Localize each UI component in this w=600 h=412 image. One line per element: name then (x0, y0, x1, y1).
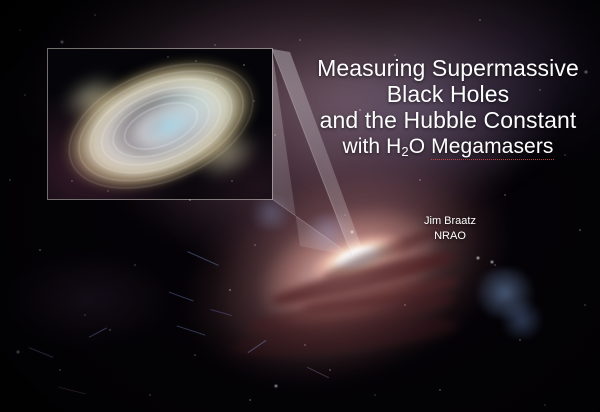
title-line-3: and the Hubble Constant (300, 108, 596, 134)
title-line-4-prefix: with H (342, 135, 401, 158)
page-title: Measuring Supermassive Black Holes and t… (300, 56, 596, 160)
author-affiliation: NRAO (370, 229, 530, 244)
title-line-4-mid: O (409, 135, 431, 158)
title-line-1: Measuring Supermassive (300, 56, 596, 82)
presentation-slide: Measuring Supermassive Black Holes and t… (0, 0, 600, 412)
byline: Jim Braatz NRAO (370, 214, 530, 243)
title-line-4-misspelled-word: Megamasers (431, 135, 553, 160)
author-name: Jim Braatz (370, 214, 530, 229)
title-line-2: Black Holes (300, 82, 596, 108)
accretion-disk-inset (48, 49, 272, 199)
water-subscript: 2 (401, 144, 408, 159)
title-line-4: with H2O Megamasers (300, 135, 596, 159)
